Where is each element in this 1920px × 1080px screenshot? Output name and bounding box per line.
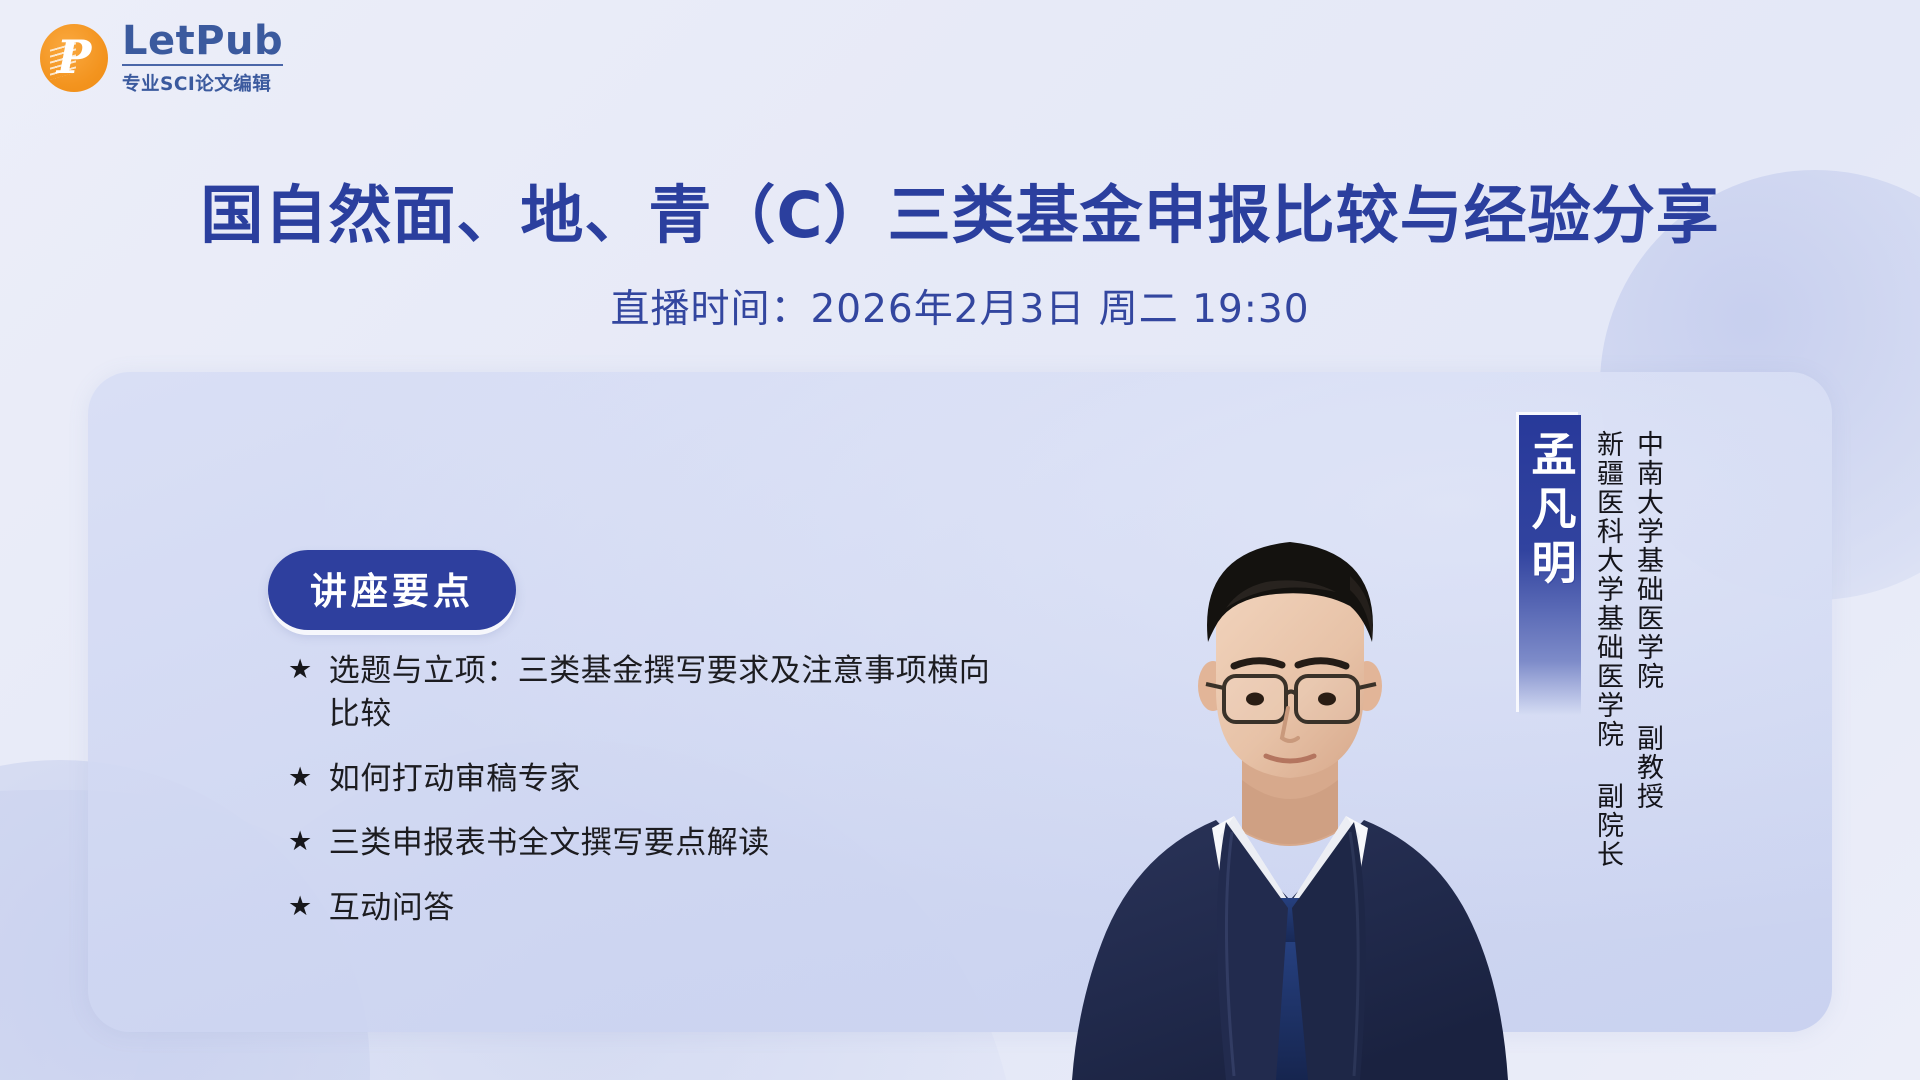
list-item: ★ 互动问答 <box>288 887 1008 930</box>
speaker-affiliation-secondary: 新疆医科大学基础医学院 副院长 <box>1590 430 1624 869</box>
speaker-affiliations: 新疆医科大学基础医学院 副院长 中南大学基础医学院 副教授 <box>1590 430 1664 869</box>
brand-tagline: 专业SCI论文编辑 <box>122 64 283 96</box>
brand-logo[interactable]: P LetPub 专业SCI论文编辑 <box>40 20 283 96</box>
speaker-name-plate: 孟凡明 <box>1519 415 1581 715</box>
speaker-name: 孟凡明 <box>1518 415 1583 593</box>
speaker-photo <box>1020 480 1560 1080</box>
star-icon: ★ <box>288 650 313 691</box>
list-item-label: 如何打动审稿专家 <box>329 758 1008 801</box>
brand-name: LetPub <box>122 20 283 62</box>
list-item: ★ 三类申报表书全文撰写要点解读 <box>288 822 1008 865</box>
webinar-poster: P LetPub 专业SCI论文编辑 国自然面、地、青（C）三类基金申报比较与经… <box>0 0 1920 1080</box>
list-item-label: 选题与立项：三类基金撰写要求及注意事项横向比较 <box>329 650 1008 736</box>
section-badge: 讲座要点 <box>268 550 516 630</box>
list-item: ★ 如何打动审稿专家 <box>288 758 1008 801</box>
broadcast-time: 直播时间：2026年2月3日 周二 19:30 <box>0 278 1920 334</box>
logo-letter: P <box>40 34 108 80</box>
list-item-label: 三类申报表书全文撰写要点解读 <box>329 822 1008 865</box>
letpub-p-icon: P <box>40 24 108 92</box>
brand-logo-text: LetPub 专业SCI论文编辑 <box>122 20 283 96</box>
page-title: 国自然面、地、青（C）三类基金申报比较与经验分享 <box>0 165 1920 256</box>
star-icon: ★ <box>288 822 313 863</box>
star-icon: ★ <box>288 887 313 928</box>
key-points-list: ★ 选题与立项：三类基金撰写要求及注意事项横向比较 ★ 如何打动审稿专家 ★ 三… <box>288 650 1008 952</box>
list-item: ★ 选题与立项：三类基金撰写要求及注意事项横向比较 <box>288 650 1008 736</box>
star-icon: ★ <box>288 758 313 799</box>
list-item-label: 互动问答 <box>329 887 1008 930</box>
speaker-affiliation-primary: 中南大学基础医学院 副教授 <box>1630 430 1664 811</box>
